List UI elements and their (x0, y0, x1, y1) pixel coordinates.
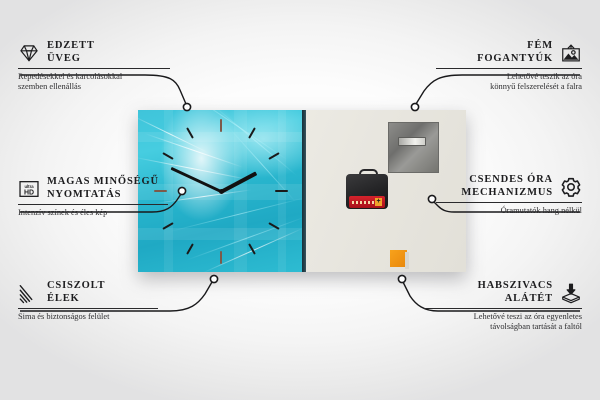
infographic-canvas: + (0, 0, 600, 400)
callout-title: EDZETTÜVEG (47, 40, 95, 65)
beveled-edges-icon (18, 282, 40, 304)
callout-subtitle: Lehetővé teszik az órakönnyű felszerelés… (436, 72, 582, 93)
quartz-clock-mechanism: + (346, 169, 388, 209)
foam-spacer-pad (390, 250, 407, 267)
product-image: + (138, 110, 466, 272)
callout-title: HABSZIVACSALÁTÉT (478, 280, 553, 305)
gear-icon (560, 176, 582, 198)
callout-divider (436, 202, 582, 203)
callout-habszivacs-alatet[interactable]: HABSZIVACSALÁTÉT Lehetővé teszi az óra e… (424, 280, 582, 333)
svg-text:ultra: ultra (24, 184, 34, 189)
clock-tick (220, 119, 222, 132)
callout-title: FÉMFOGANTYÚK (477, 40, 553, 65)
connector-endpoint (398, 275, 405, 282)
clock-tick (275, 190, 288, 192)
callout-subtitle: Repedésekkel és karcolásokkalszemben ell… (18, 72, 170, 93)
battery-label-stripe (352, 201, 374, 204)
callout-title: MAGAS MINŐSÉGŰNYOMTATÁS (47, 176, 159, 201)
callout-divider (18, 204, 168, 205)
callout-csiszolt-elek[interactable]: CSISZOLTÉLEK Sima és biztonságos felület (18, 280, 158, 322)
callout-fem-fogantyuk[interactable]: FÉMFOGANTYÚK Lehetővé teszik az órakönny… (436, 40, 582, 93)
callout-title: CSENDES ÓRAMECHANIZMUS (461, 174, 553, 199)
callout-edzett-uveg[interactable]: EDZETTÜVEG Repedésekkel és karcolásokkal… (18, 40, 170, 93)
clock-tick (220, 251, 222, 264)
foam-pad-press-icon (560, 282, 582, 304)
callout-subtitle: Sima és biztonságos felület (18, 312, 158, 322)
callout-subtitle: Lehetővé teszi az óra egyenletestávolság… (424, 312, 582, 333)
clock-center-hub (219, 189, 224, 194)
callout-subtitle: Intenzív színek és éles kép (18, 208, 168, 218)
callout-csendes-ora-mechanizmus[interactable]: CSENDES ÓRAMECHANIZMUS Óramutatók hang n… (436, 174, 582, 216)
panel-seam (302, 110, 306, 272)
battery-polarity-label: + (375, 198, 382, 206)
connector-endpoint (210, 275, 217, 282)
callout-divider (436, 68, 582, 69)
callout-title: CSISZOLTÉLEK (47, 280, 105, 305)
ultra-hd-icon: ultra HD (18, 178, 40, 200)
callout-subtitle: Óramutatók hang nélkül (436, 206, 582, 216)
diamond-icon (18, 42, 40, 64)
callout-divider (424, 308, 582, 309)
metal-hanger-plate (388, 122, 439, 173)
callout-divider (18, 68, 170, 69)
battery: + (349, 196, 385, 208)
callout-divider (18, 308, 158, 309)
picture-hanger-icon (560, 42, 582, 64)
svg-text:HD: HD (24, 189, 34, 196)
mechanism-housing: + (346, 174, 388, 209)
callout-magas-minosegu-nyomtatas[interactable]: ultra HD MAGAS MINŐSÉGŰNYOMTATÁS Intenzí… (18, 176, 168, 218)
